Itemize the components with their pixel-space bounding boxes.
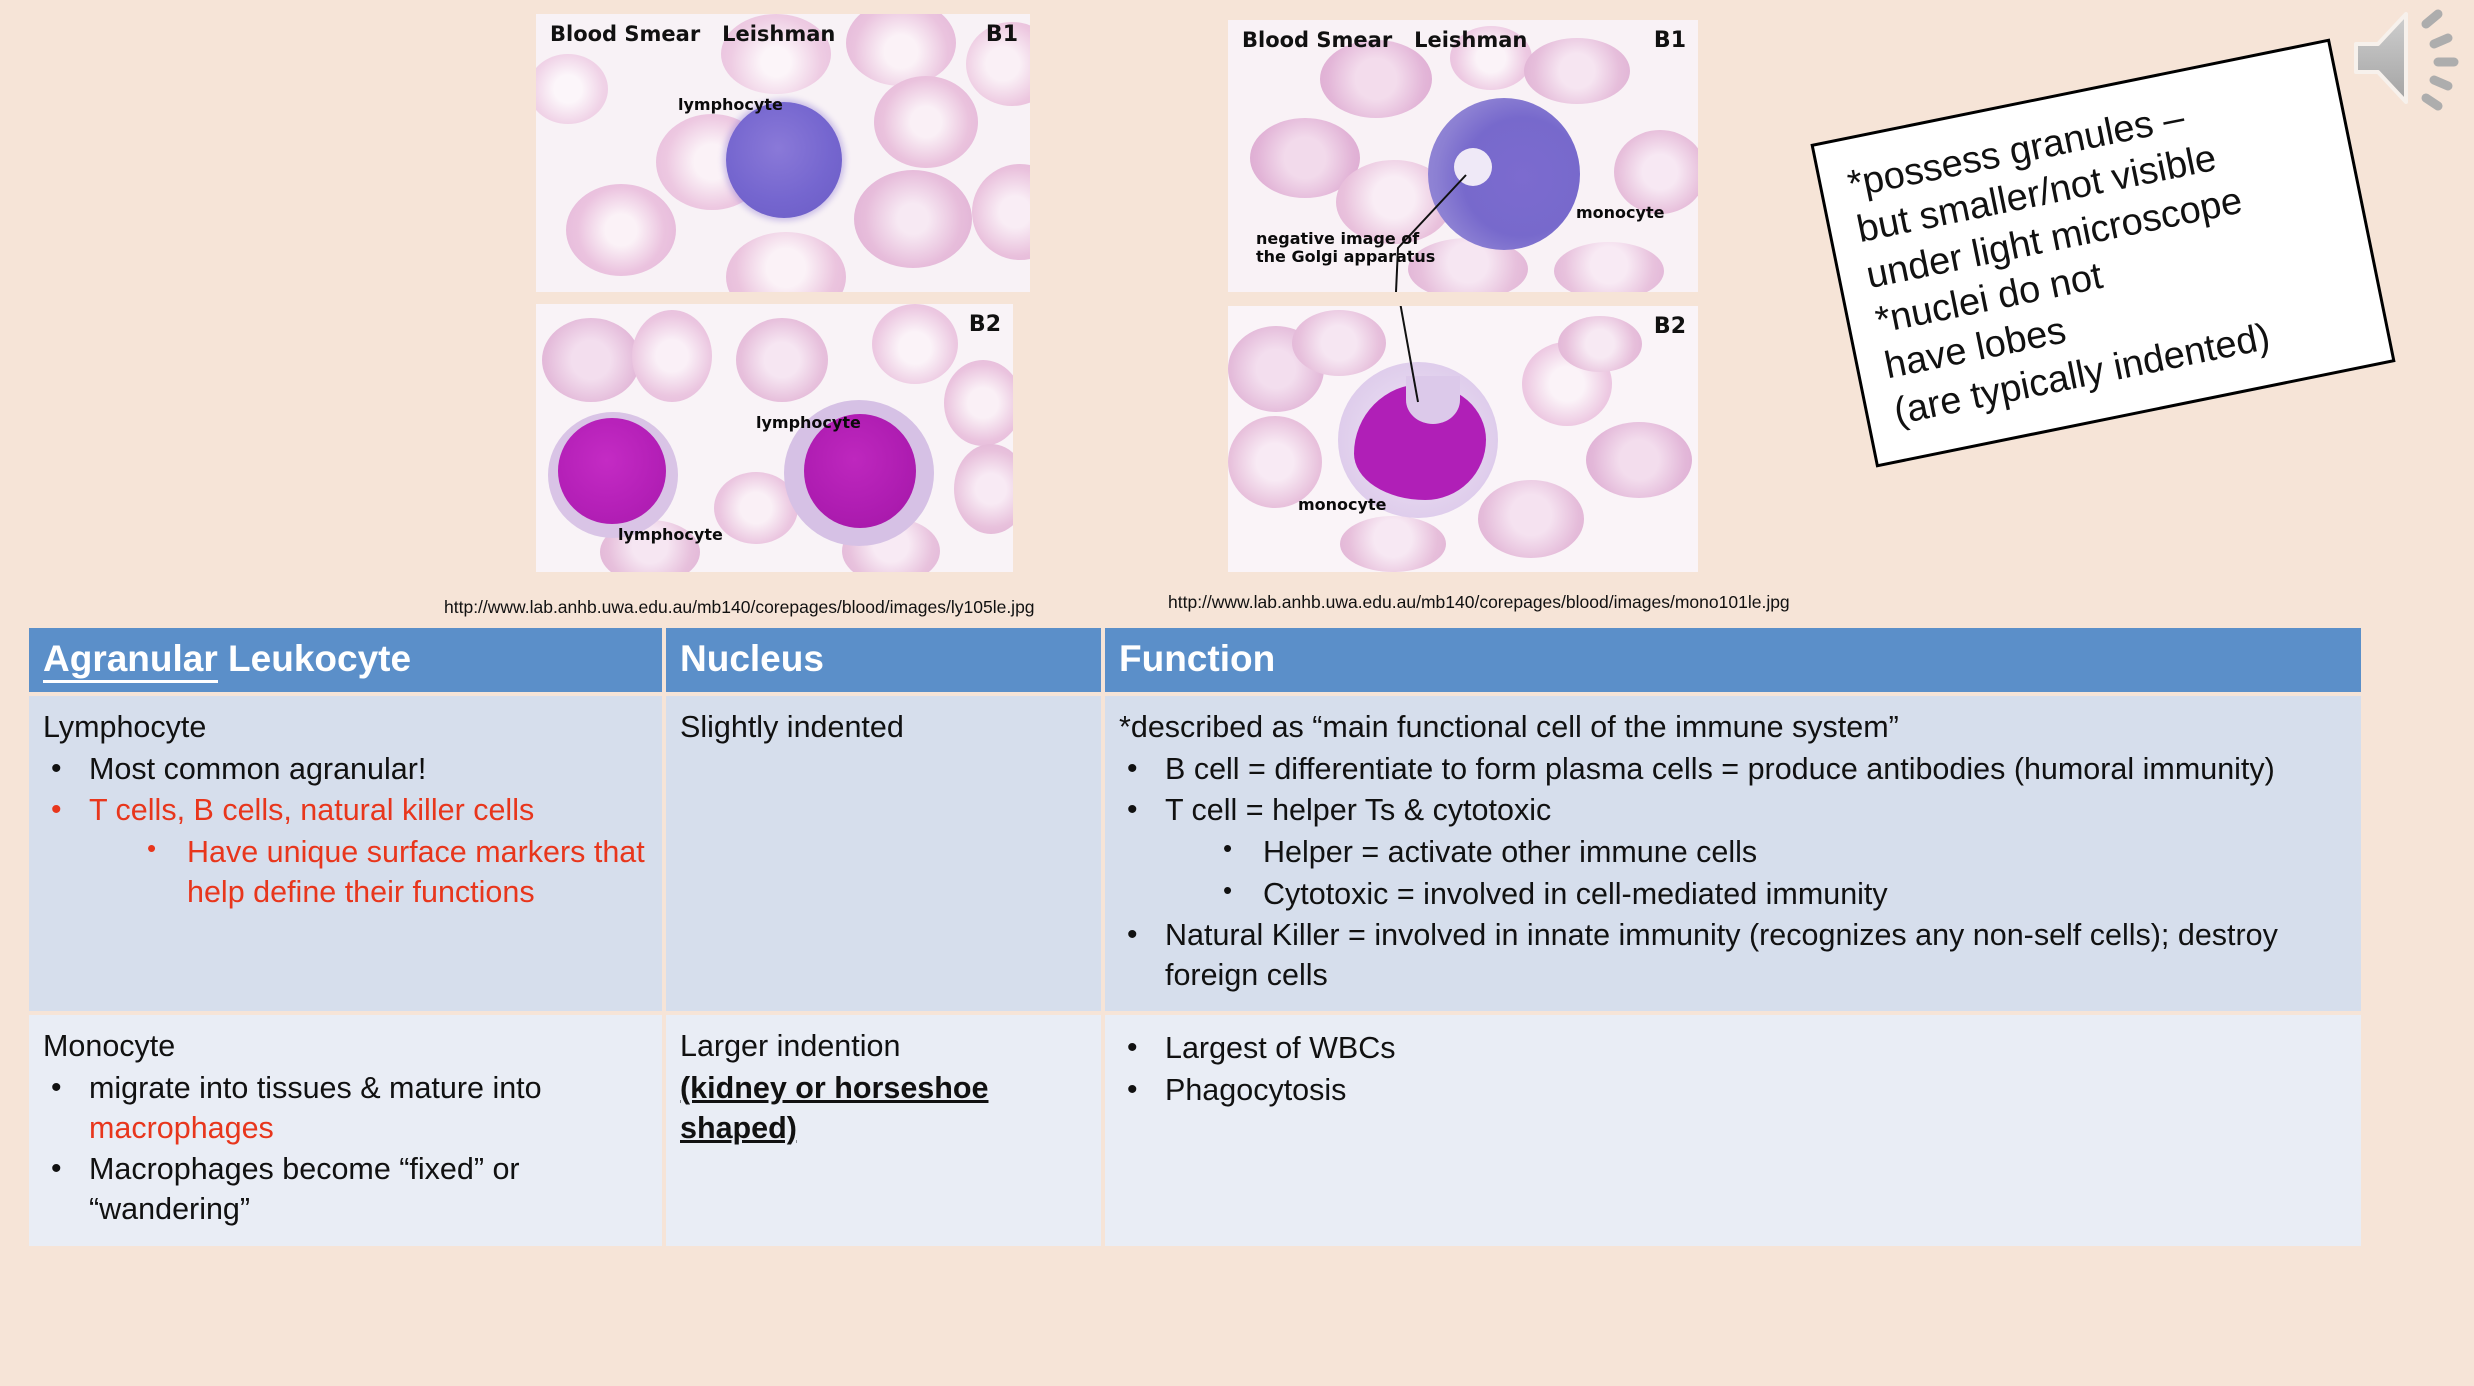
smear-title: Blood Smear Leishman (550, 22, 835, 46)
panel-corner-label: B1 (986, 22, 1018, 47)
lymphocyte-function-bullet-2-sub-2: Cytotoxic = involved in cell-mediated im… (1263, 877, 1888, 911)
lymphocyte-bullet-2: T cells, B cells, natural killer cells (89, 793, 534, 827)
panel-corner-label: B1 (1654, 28, 1686, 53)
micrograph-monocyte-b2: B2 monocyte (1228, 306, 1698, 572)
golgi-leader-line-cont (1228, 306, 1698, 572)
micrograph-monocyte-b1: Blood Smear Leishman B1 monocyte negativ… (1228, 20, 1698, 292)
list-item: T cells, B cells, natural killer cells H… (43, 791, 648, 912)
monocyte-title: Monocyte (43, 1027, 648, 1067)
lymphocyte-function-bullet-2: T cell = helper Ts & cytotoxic (1165, 793, 1551, 827)
lymphocyte-function-lead: *described as “main functional cell of t… (1119, 708, 2347, 748)
list-item: Macrophages become “fixed” or “wandering… (43, 1150, 648, 1229)
micrograph-lymphocyte-b1: Blood Smear Leishman B1 lymphocyte (536, 14, 1030, 292)
lymphocyte-cell (726, 102, 842, 218)
list-item: Natural Killer = involved in innate immu… (1119, 916, 2347, 995)
lymphocyte-function-bullet-1: B cell = differentiate to form plasma ce… (1165, 752, 2275, 786)
citation-monocyte-url: http://www.lab.anhb.uwa.edu.au/mb140/cor… (1168, 592, 1790, 612)
agranular-leukocyte-table: Agranular Leukocyte Nucleus Function Lym… (25, 624, 2365, 1250)
speaker-icon[interactable] (2344, 2, 2470, 114)
list-item: migrate into tissues & mature into macro… (43, 1069, 648, 1148)
callout-text: *possess granules – but smaller/not visi… (1844, 69, 2362, 436)
slide-canvas: Blood Smear Leishman B1 lymphocyte B2 ly… (0, 0, 2474, 1386)
table-row-monocyte: Monocyte migrate into tissues & mature i… (29, 1015, 2361, 1245)
citation-lymphocyte-url: http://www.lab.anhb.uwa.edu.au/mb140/cor… (444, 597, 1035, 617)
monocyte-function-bullet-2: Phagocytosis (1165, 1073, 1346, 1107)
list-item: T cell = helper Ts & cytotoxic Helper = … (1119, 791, 2347, 914)
label-golgi-apparatus: negative image of the Golgi apparatus (1256, 230, 1435, 267)
table-row-lymphocyte: Lymphocyte Most common agranular! T cell… (29, 696, 2361, 1011)
lymphocyte-title: Lymphocyte (43, 708, 648, 748)
lymphocyte-function-bullet-3: Natural Killer = involved in innate immu… (1165, 918, 2278, 992)
label-monocyte: monocyte (1298, 496, 1386, 514)
lymphocyte-bullet-2-sub-1: Have unique surface markers that help de… (187, 835, 645, 909)
lymphocyte-cell (558, 418, 666, 524)
monocyte-bullet-1: migrate into tissues & mature into (89, 1071, 542, 1105)
column-header-agranular-leukocyte: Agranular Leukocyte (29, 628, 662, 692)
table-header-row: Agranular Leukocyte Nucleus Function (29, 628, 2361, 692)
label-lymphocyte-upper: lymphocyte (756, 414, 861, 432)
cell-lymphocyte-name: Lymphocyte Most common agranular! T cell… (29, 696, 662, 1011)
micrograph-lymphocyte-b2: B2 lymphocyte lymphocyte (536, 304, 1013, 572)
column-header-agranular-word: Agranular (43, 638, 218, 683)
citation-monocyte: http://www.lab.anhb.uwa.edu.au/mb140/cor… (1168, 592, 1968, 612)
column-header-function: Function (1105, 628, 2361, 692)
lymphocyte-bullet-1: Most common agranular! (89, 752, 426, 786)
citation-lymphocyte: http://www.lab.anhb.uwa.edu.au/mb140/cor… (444, 597, 724, 617)
list-item: Most common agranular! (43, 750, 648, 790)
list-item: Cytotoxic = involved in cell-mediated im… (1217, 875, 2347, 915)
label-lymphocyte: lymphocyte (678, 96, 783, 114)
label-monocyte: monocyte (1576, 204, 1664, 222)
label-lymphocyte-lower: lymphocyte (618, 526, 723, 544)
monocyte-bullet-2: Macrophages become “fixed” or “wandering… (89, 1152, 520, 1226)
panel-corner-label: B2 (969, 312, 1001, 337)
monocyte-nucleus-shape: (kidney or horseshoe shaped) (680, 1069, 1087, 1148)
cell-monocyte-name: Monocyte migrate into tissues & mature i… (29, 1015, 662, 1245)
column-header-leukocyte-word: Leukocyte (218, 638, 411, 679)
lymphocyte-function-bullet-2-sub-1: Helper = activate other immune cells (1263, 835, 1757, 869)
smear-title: Blood Smear Leishman (1242, 28, 1527, 52)
cell-monocyte-function: Largest of WBCs Phagocytosis (1105, 1015, 2361, 1245)
list-item: Have unique surface markers that help de… (141, 833, 648, 912)
panel-corner-label: B2 (1654, 314, 1686, 339)
list-item: Largest of WBCs (1119, 1029, 2347, 1069)
lymphocyte-nucleus-text: Slightly indented (680, 708, 1087, 748)
monocyte-nucleus-text: Larger indention (680, 1027, 1087, 1067)
monocyte-bullet-1-macrophages: macrophages (89, 1111, 274, 1145)
list-item: B cell = differentiate to form plasma ce… (1119, 750, 2347, 790)
callout-box: *possess granules – but smaller/not visi… (1810, 38, 2395, 467)
cell-monocyte-nucleus: Larger indention (kidney or horseshoe sh… (666, 1015, 1101, 1245)
monocyte-function-bullet-1: Largest of WBCs (1165, 1031, 1396, 1065)
list-item: Phagocytosis (1119, 1071, 2347, 1111)
column-header-nucleus: Nucleus (666, 628, 1101, 692)
list-item: Helper = activate other immune cells (1217, 833, 2347, 873)
cell-lymphocyte-function: *described as “main functional cell of t… (1105, 696, 2361, 1011)
cell-lymphocyte-nucleus: Slightly indented (666, 696, 1101, 1011)
